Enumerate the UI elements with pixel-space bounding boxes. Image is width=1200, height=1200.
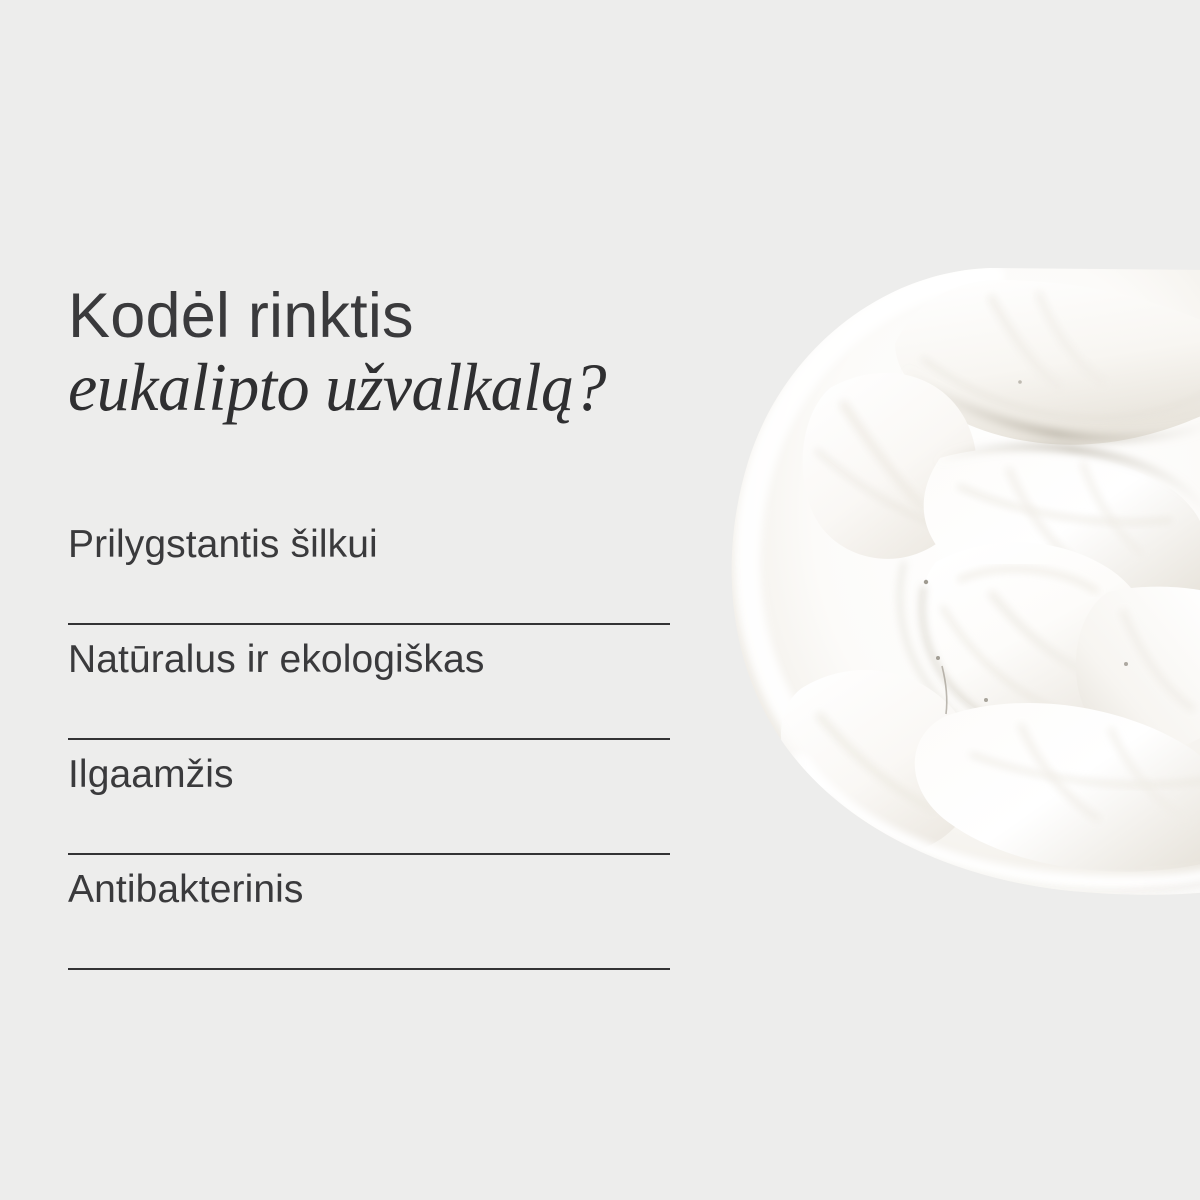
feature-label: Ilgaamžis xyxy=(68,752,234,798)
page-title: Kodėl rinktis eukalipto užvalkalą? xyxy=(68,282,788,424)
feature-label: Prilygstantis šilkui xyxy=(68,522,378,568)
feature-item-3: Ilgaamžis xyxy=(68,740,670,855)
feature-label: Natūralus ir ekologiškas xyxy=(68,637,484,683)
headline-line-1: Kodėl rinktis xyxy=(68,282,788,350)
headline-line-2: eukalipto užvalkalą? xyxy=(68,350,766,424)
feature-item-4: Antibakterinis xyxy=(68,855,670,970)
copy-block: Kodėl rinktis eukalipto užvalkalą? Prily… xyxy=(68,282,788,424)
feature-item-1: Prilygstantis šilkui xyxy=(68,510,670,625)
promo-canvas: Kodėl rinktis eukalipto užvalkalą? Prily… xyxy=(0,0,1200,1200)
feature-item-2: Natūralus ir ekologiškas xyxy=(68,625,670,740)
feature-list: Prilygstantis šilkui Natūralus ir ekolog… xyxy=(68,510,670,970)
feature-label: Antibakterinis xyxy=(68,867,304,913)
